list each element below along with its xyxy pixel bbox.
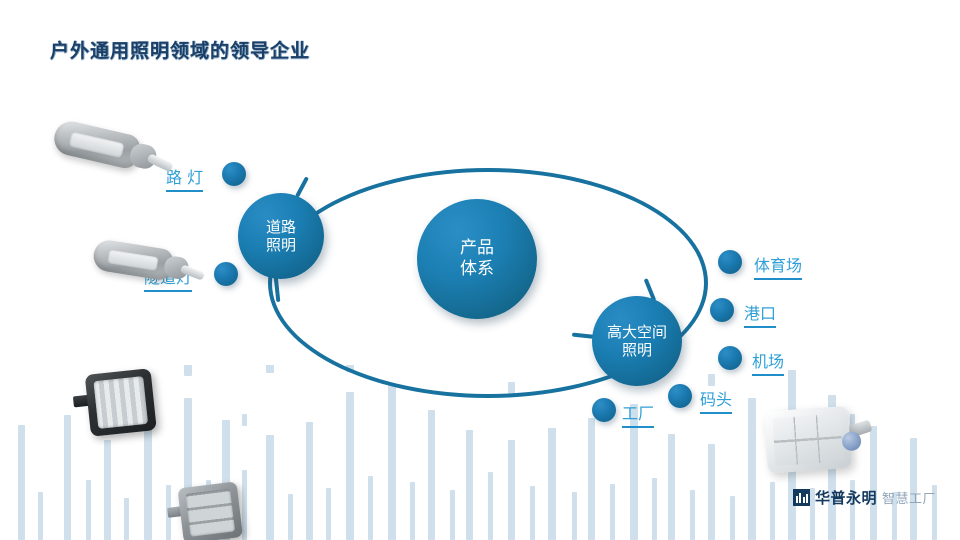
- label-stadium[interactable]: 体育场: [754, 252, 802, 280]
- floodlight-lens: [185, 488, 235, 536]
- label-wharf[interactable]: 码头: [700, 386, 732, 414]
- decorative-bar-segment: [266, 365, 274, 373]
- decorative-bar: [450, 490, 455, 540]
- decorative-bar: [346, 392, 354, 540]
- label-airport[interactable]: 机场: [752, 348, 784, 376]
- street-lamp-arm: [146, 153, 173, 172]
- hub-road-line1: 道路: [266, 218, 296, 236]
- bullet-dot-factory[interactable]: [592, 398, 616, 422]
- bullet-dot-wharf[interactable]: [668, 384, 692, 408]
- decorative-bar: [86, 480, 91, 540]
- decorative-bar: [306, 422, 313, 540]
- product-street-lamp-bottom: [90, 238, 197, 296]
- decorative-bar: [266, 435, 274, 540]
- label-factory[interactable]: 工厂: [622, 400, 654, 428]
- hub-bay-line1: 高大空间: [607, 323, 667, 341]
- decorative-bar: [410, 482, 415, 540]
- decorative-bar: [708, 444, 715, 540]
- bullet-dot-port[interactable]: [710, 298, 734, 322]
- decorative-bar: [668, 434, 675, 540]
- decorative-bar: [610, 484, 615, 540]
- decorative-bar: [488, 472, 493, 540]
- hub-road-line2: 照明: [266, 236, 296, 254]
- decorative-bar: [530, 486, 535, 540]
- bullet-dot-stadium[interactable]: [718, 250, 742, 274]
- logo-sub-text: 智慧工厂: [882, 488, 936, 507]
- product-street-lamp-top: [48, 118, 166, 188]
- decorative-bar: [124, 498, 129, 540]
- decorative-bar: [104, 440, 111, 540]
- bullet-dot-tunnel-light[interactable]: [214, 262, 238, 286]
- product-tunnel-floodlight-grey: [165, 479, 248, 540]
- decorative-bar: [652, 478, 657, 540]
- decorative-bar: [326, 488, 331, 540]
- hub-bay-line2: 照明: [622, 341, 652, 359]
- decorative-bar: [748, 398, 756, 540]
- decorative-bar: [572, 492, 577, 540]
- slide-canvas: 户外通用照明领域的领导企业 产品 体系 道路 照明 高大空间 照明 路 灯 隧道…: [0, 0, 960, 540]
- decorative-bar: [588, 418, 595, 540]
- logo-brand-text: 华普永明: [815, 487, 877, 508]
- decorative-bar: [38, 492, 43, 540]
- decorative-bar: [18, 425, 25, 540]
- connector-road-top: [295, 176, 309, 197]
- decorative-bar-segment: [708, 374, 715, 386]
- company-logo: 华普永明 智慧工厂: [793, 487, 936, 508]
- floodlight-lens: [93, 376, 148, 429]
- product-stadium-floodlight: [764, 400, 875, 481]
- hub-road-lighting[interactable]: 道路 照明: [238, 193, 324, 279]
- bullet-dot-airport[interactable]: [718, 346, 742, 370]
- product-tunnel-floodlight-dark: [71, 366, 162, 444]
- street-lamp-arm: [180, 264, 205, 280]
- decorative-bar: [466, 430, 473, 540]
- page-title: 户外通用照明领域的领导企业: [50, 36, 310, 63]
- decorative-bar: [428, 410, 435, 540]
- decorative-bar-segment: [242, 414, 247, 426]
- hub-highbay-lighting[interactable]: 高大空间 照明: [592, 296, 682, 386]
- decorative-bar: [368, 476, 373, 540]
- decorative-bar-segment: [184, 365, 192, 376]
- decorative-bar: [508, 440, 515, 540]
- floodlight-led-grid: [772, 413, 843, 466]
- hub-center-line1: 产品: [460, 238, 494, 258]
- decorative-bar: [288, 494, 293, 540]
- decorative-bar: [730, 496, 735, 540]
- decorative-bar: [690, 490, 695, 540]
- hub-product-system[interactable]: 产品 体系: [417, 199, 537, 319]
- logo-mark-icon: [793, 489, 810, 506]
- floodlight-knob: [841, 431, 861, 451]
- decorative-bar: [64, 415, 71, 540]
- decorative-bar: [770, 482, 775, 540]
- hub-center-line2: 体系: [460, 259, 494, 279]
- decorative-bar: [388, 385, 396, 540]
- bullet-dot-street-light[interactable]: [222, 162, 246, 186]
- label-port[interactable]: 港口: [744, 300, 776, 328]
- decorative-bar: [548, 428, 556, 540]
